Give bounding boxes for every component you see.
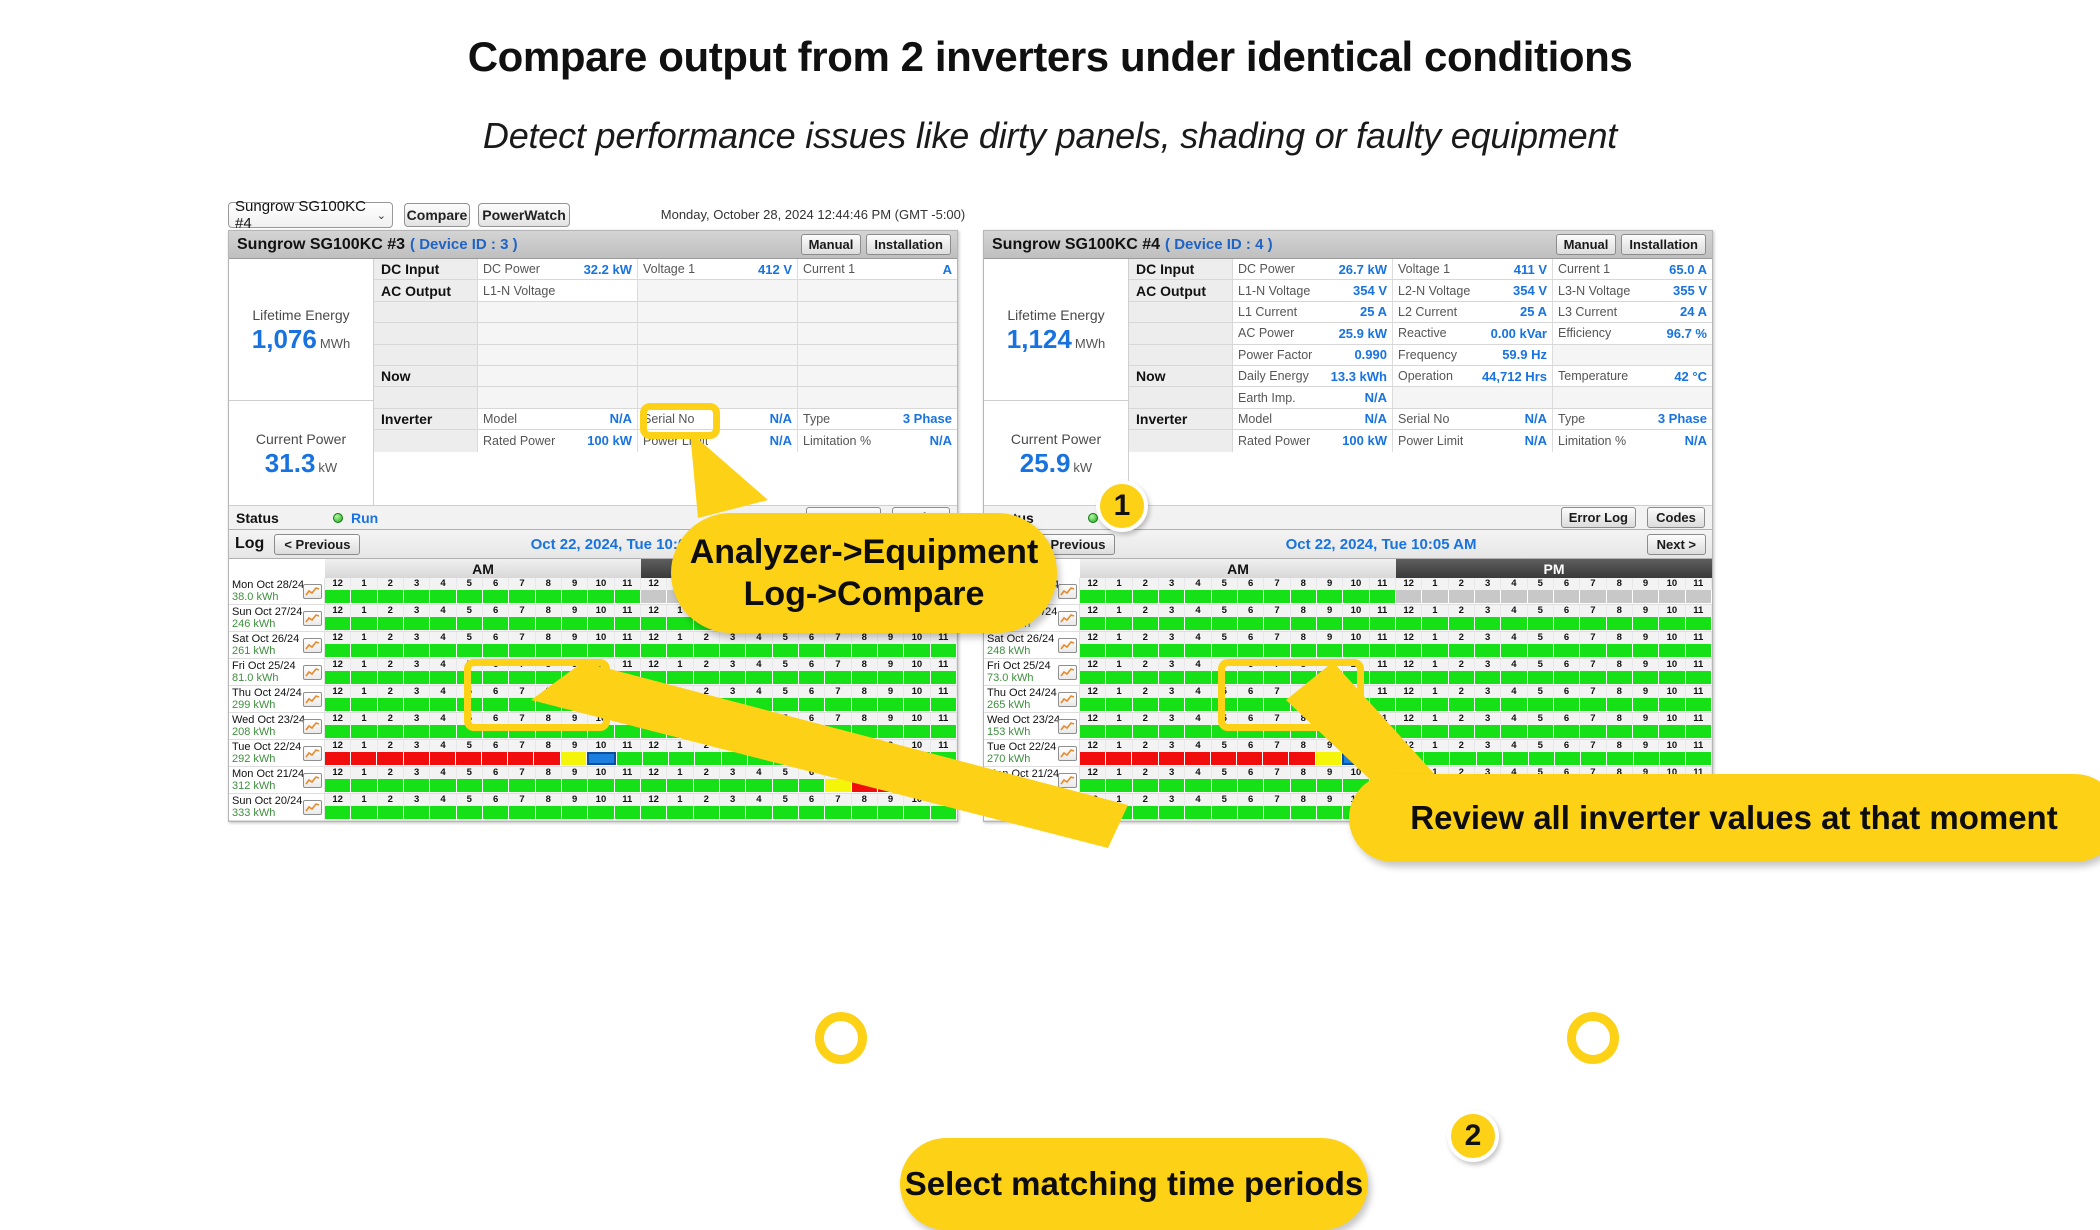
hour-cell[interactable] [1370,698,1395,711]
hour-cell[interactable] [1080,617,1105,630]
hour-cell[interactable] [1133,698,1158,711]
hour-cell[interactable] [377,752,402,765]
hour-cell[interactable] [351,590,376,603]
hour-cell[interactable] [1185,617,1210,630]
hour-cell[interactable] [1185,752,1210,765]
hour-cell[interactable] [773,806,798,819]
hour-cell[interactable] [694,644,719,657]
hour-cell[interactable] [1528,725,1553,738]
hour-cell[interactable] [1343,671,1368,684]
chart-icon[interactable] [303,638,322,653]
hour-cell[interactable] [325,671,350,684]
hour-cell[interactable] [799,806,824,819]
hour-cell[interactable] [746,725,771,738]
hour-cell[interactable] [1659,725,1684,738]
hour-cell[interactable] [773,671,798,684]
hour-cell[interactable] [1449,617,1474,630]
chart-icon[interactable] [1058,746,1077,761]
hour-cell[interactable] [1396,644,1421,657]
hour-cell[interactable] [1659,698,1684,711]
hour-cell[interactable] [325,806,350,819]
hour-cell[interactable] [1554,671,1579,684]
hour-cell[interactable] [1291,779,1316,792]
hour-cell[interactable] [904,779,929,792]
hour-cell[interactable] [378,617,403,630]
hour-cell[interactable] [694,590,719,603]
hour-cell[interactable] [1106,779,1131,792]
hour-cell[interactable] [1159,617,1184,630]
hour-cell[interactable] [1554,590,1579,603]
hour-cell[interactable] [430,779,455,792]
hour-cell[interactable] [1501,617,1526,630]
hour-cell[interactable] [1291,590,1316,603]
hour-cell[interactable] [1501,671,1526,684]
hour-cell[interactable] [1372,752,1397,765]
hour-cell[interactable] [799,644,824,657]
hour-cell[interactable] [1396,698,1421,711]
hour-cell[interactable] [1317,725,1342,738]
chart-icon[interactable] [303,665,322,680]
hour-cell[interactable] [1291,698,1316,711]
hour-cell[interactable] [825,590,850,603]
hour-cell[interactable] [746,779,771,792]
hour-cell[interactable] [1580,779,1605,792]
hour-cell[interactable] [509,779,534,792]
hour-cell[interactable] [1503,752,1528,765]
hour-cell[interactable] [482,752,507,765]
hour-cell[interactable] [1132,752,1157,765]
hour-cell[interactable] [351,617,376,630]
hour-cell[interactable] [825,698,850,711]
hour-cell[interactable] [825,725,850,738]
hour-cell[interactable] [1501,779,1526,792]
hour-cell[interactable] [509,806,534,819]
hour-cell[interactable] [1185,806,1210,819]
hour-cell[interactable] [430,644,455,657]
hour-cell[interactable] [1607,752,1632,765]
hour-cell[interactable] [456,752,481,765]
hour-cell[interactable] [852,779,877,792]
hour-cell[interactable] [1343,779,1368,792]
hour-cell[interactable] [483,779,508,792]
hour-cell[interactable] [1580,671,1605,684]
hour-cell[interactable] [1475,806,1500,819]
hour-cell[interactable] [1396,725,1421,738]
hour-cell[interactable] [1475,590,1500,603]
hour-cell[interactable] [1212,698,1237,711]
hour-cell[interactable] [641,806,666,819]
hour-cell[interactable] [825,779,850,792]
hour-cell[interactable] [852,752,877,765]
manual-button[interactable]: Manual [801,234,862,255]
hour-cell[interactable] [931,779,956,792]
hour-cell[interactable] [1212,644,1237,657]
hour-cell[interactable] [430,590,455,603]
hour-cell[interactable] [1212,806,1237,819]
hour-cell[interactable] [378,644,403,657]
hour-cell[interactable] [404,779,429,792]
hour-cell[interactable] [773,617,798,630]
hour-cell[interactable] [1422,671,1447,684]
hour-cell[interactable] [1449,671,1474,684]
hour-cell[interactable] [720,725,745,738]
hour-cell[interactable] [931,644,956,657]
hour-cell[interactable] [588,806,613,819]
hour-cell[interactable] [695,752,720,765]
hour-cell[interactable] [1370,671,1395,684]
hour-cell[interactable] [588,779,613,792]
hour-cell[interactable] [748,752,773,765]
hour-cell[interactable] [1263,752,1288,765]
hour-cell[interactable] [1238,644,1263,657]
hour-cell[interactable] [1370,806,1395,819]
hour-cell[interactable] [1528,698,1553,711]
hour-cell[interactable] [325,590,350,603]
hour-cell[interactable] [1449,779,1474,792]
hour-cell[interactable] [931,671,956,684]
hour-cell[interactable] [536,725,561,738]
hour-cell[interactable] [1659,806,1684,819]
hour-cell[interactable] [1633,671,1658,684]
hour-cell[interactable] [1449,590,1474,603]
chart-icon[interactable] [303,773,322,788]
hour-cell[interactable] [1686,698,1711,711]
hour-cell[interactable] [430,752,455,765]
hour-cell[interactable] [457,644,482,657]
hour-cell[interactable] [1449,644,1474,657]
hour-cell[interactable] [1607,671,1632,684]
hour-cell[interactable] [904,644,929,657]
hour-cell[interactable] [1185,698,1210,711]
hour-cell[interactable] [1291,644,1316,657]
hour-cell[interactable] [852,806,877,819]
hour-cell[interactable] [1080,806,1105,819]
hour-cell[interactable] [1686,806,1711,819]
hour-cell[interactable] [746,590,771,603]
hour-cell[interactable] [1580,590,1605,603]
installation-button[interactable]: Installation [866,234,951,255]
hour-cell[interactable] [457,617,482,630]
hour-cell[interactable] [1686,779,1711,792]
hour-cell[interactable] [1080,698,1105,711]
hour-cell[interactable] [641,644,666,657]
hour-cell[interactable] [931,698,956,711]
hour-cell[interactable] [325,779,350,792]
hour-cell[interactable] [378,779,403,792]
hour-cell[interactable] [1238,779,1263,792]
hour-cell[interactable] [1106,725,1131,738]
hour-cell[interactable] [1633,644,1658,657]
hour-cell[interactable] [1370,644,1395,657]
hour-cell[interactable] [799,725,824,738]
hour-cell[interactable] [931,806,956,819]
hour-cell[interactable] [931,725,956,738]
chart-icon[interactable] [1058,584,1077,599]
hour-cell[interactable] [615,617,640,630]
hour-cell[interactable] [1607,806,1632,819]
hour-cell[interactable] [483,644,508,657]
hour-cell[interactable] [1291,617,1316,630]
hour-cell[interactable] [536,698,561,711]
hour-cell[interactable] [1528,617,1553,630]
hour-cell[interactable] [667,590,692,603]
hour-cell[interactable] [667,779,692,792]
hour-cell[interactable] [774,752,799,765]
hour-cell[interactable] [1555,752,1580,765]
hour-cell[interactable] [457,725,482,738]
hour-cell[interactable] [799,617,824,630]
hour-cell[interactable] [1212,617,1237,630]
hour-cell[interactable] [1528,671,1553,684]
hour-cell[interactable] [931,617,956,630]
chart-icon[interactable] [1058,692,1077,707]
hour-cell[interactable] [430,617,455,630]
hour-cell[interactable] [852,590,877,603]
hour-cell[interactable] [1159,806,1184,819]
hour-cell[interactable] [615,779,640,792]
hour-cell[interactable] [483,671,508,684]
hour-cell[interactable] [1185,779,1210,792]
hour-cell[interactable] [1422,779,1447,792]
hour-cell[interactable] [641,590,666,603]
hour-cell[interactable] [1659,644,1684,657]
hour-cell[interactable] [1317,779,1342,792]
hour-cell[interactable] [1501,725,1526,738]
hour-cell[interactable] [694,671,719,684]
hour-cell[interactable] [1633,779,1658,792]
hour-cell[interactable] [615,671,640,684]
hour-cell[interactable] [904,698,929,711]
hour-cell[interactable] [1080,671,1105,684]
hour-cell[interactable] [641,725,666,738]
hour-cell[interactable] [1580,617,1605,630]
hour-cell[interactable] [1106,752,1131,765]
hour-cell[interactable] [720,617,745,630]
hour-cell[interactable] [799,671,824,684]
compare-button[interactable]: Compare [404,203,470,227]
hour-cell[interactable] [1133,806,1158,819]
hour-cell[interactable] [457,590,482,603]
hour-cell[interactable] [1185,644,1210,657]
hour-cell[interactable] [1554,617,1579,630]
hour-cell[interactable] [483,590,508,603]
error-log-button[interactable]: Error Log [1561,507,1636,528]
hour-cell[interactable] [1554,698,1579,711]
hour-cell[interactable] [536,779,561,792]
hour-cell[interactable] [1080,644,1105,657]
hour-cell[interactable] [536,671,561,684]
hour-cell[interactable] [1554,779,1579,792]
hour-cell[interactable] [1607,644,1632,657]
hour-cell[interactable] [667,644,692,657]
hour-cell[interactable] [1159,644,1184,657]
hour-cell[interactable] [1633,617,1658,630]
hour-cell[interactable] [852,725,877,738]
hour-cell[interactable] [1424,752,1449,765]
hour-cell[interactable] [878,698,903,711]
hour-cell[interactable] [325,617,350,630]
hour-cell[interactable] [457,779,482,792]
hour-cell[interactable] [1449,698,1474,711]
hour-cell[interactable] [351,752,376,765]
hour-cell[interactable] [483,725,508,738]
hour-cell[interactable] [1501,644,1526,657]
hour-cell[interactable] [536,644,561,657]
hour-cell[interactable] [694,698,719,711]
hour-cell[interactable] [878,725,903,738]
hour-cell[interactable] [1607,779,1632,792]
hour-cell[interactable] [694,806,719,819]
chart-icon[interactable] [1058,611,1077,626]
hour-cell[interactable] [1633,698,1658,711]
hour-cell[interactable] [1291,806,1316,819]
hour-cell[interactable] [1238,698,1263,711]
hour-cell[interactable] [457,671,482,684]
hour-cell[interactable] [483,617,508,630]
manual-button[interactable]: Manual [1556,234,1617,255]
chart-icon[interactable] [303,584,322,599]
hour-cell[interactable] [615,725,640,738]
hour-cell[interactable] [1343,644,1368,657]
hour-cell[interactable] [588,644,613,657]
hour-cell[interactable] [667,698,692,711]
hour-cell[interactable] [1633,725,1658,738]
hour-cell[interactable] [1396,671,1421,684]
hour-cell[interactable] [351,698,376,711]
hour-cell[interactable] [1370,590,1395,603]
chart-icon[interactable] [303,692,322,707]
hour-cell[interactable] [773,698,798,711]
hour-cell[interactable] [720,806,745,819]
hour-cell[interactable] [378,725,403,738]
hour-cell[interactable] [1212,725,1237,738]
hour-cell[interactable] [1080,590,1105,603]
hour-cell[interactable] [1422,806,1447,819]
hour-cell[interactable] [404,671,429,684]
hour-cell[interactable] [1686,725,1711,738]
hour-cell[interactable] [694,779,719,792]
hour-cell[interactable] [1343,698,1368,711]
hour-cell[interactable] [1080,725,1105,738]
hour-cell[interactable] [588,590,613,603]
hour-cell[interactable] [720,644,745,657]
hour-cell[interactable] [1211,752,1236,765]
hour-cell[interactable] [1475,698,1500,711]
hour-cell[interactable] [509,644,534,657]
hour-cell[interactable] [378,671,403,684]
hour-cell[interactable] [430,671,455,684]
hour-cell[interactable] [1185,725,1210,738]
hour-cell[interactable] [1422,644,1447,657]
hour-cell[interactable] [1080,779,1105,792]
hour-cell[interactable] [1106,617,1131,630]
hour-cell[interactable] [430,698,455,711]
hour-cell[interactable] [404,752,429,765]
hour-cell[interactable] [430,806,455,819]
hour-cell[interactable] [562,644,587,657]
hour-cell[interactable] [325,725,350,738]
hour-cell[interactable] [1343,725,1368,738]
hour-cell[interactable] [536,590,561,603]
hour-cell[interactable] [562,725,587,738]
chart-icon[interactable] [1058,800,1077,815]
next-button[interactable]: Next > [892,534,951,555]
hour-cell[interactable] [457,698,482,711]
hour-cell[interactable] [1370,779,1395,792]
hour-cell[interactable] [1450,752,1475,765]
hour-cell[interactable] [1264,806,1289,819]
hour-cell[interactable] [1501,590,1526,603]
hour-cell[interactable] [1607,590,1632,603]
hour-cell[interactable] [404,806,429,819]
hour-cell[interactable] [1581,752,1606,765]
hour-cell[interactable] [615,590,640,603]
hour-cell[interactable] [1212,590,1237,603]
hour-cell[interactable] [1686,617,1711,630]
hour-cell[interactable] [1633,806,1658,819]
hour-cell[interactable] [746,806,771,819]
hour-cell[interactable] [799,590,824,603]
hour-cell[interactable] [1343,590,1368,603]
hour-cell[interactable] [694,617,719,630]
hour-cell[interactable] [1660,752,1685,765]
hour-cell[interactable] [1607,617,1632,630]
hour-cell[interactable] [1477,752,1502,765]
hour-cell[interactable] [1633,590,1658,603]
hour-cell[interactable] [1106,671,1131,684]
hour-cell[interactable] [1317,590,1342,603]
hour-cell[interactable] [1396,779,1421,792]
hour-cell[interactable] [430,725,455,738]
hour-cell[interactable] [1634,752,1659,765]
hour-cell[interactable] [852,671,877,684]
hour-cell[interactable] [825,644,850,657]
hour-cell[interactable] [509,590,534,603]
hour-cell[interactable] [588,617,613,630]
hour-cell-selected[interactable] [587,752,616,765]
hour-cell[interactable] [773,644,798,657]
hour-cell[interactable] [667,617,692,630]
hour-cell[interactable] [562,698,587,711]
hour-cell[interactable] [1607,725,1632,738]
previous-button[interactable]: < Previous [1029,534,1115,555]
hour-cell[interactable] [562,617,587,630]
hour-cell[interactable] [1317,698,1342,711]
hour-cell[interactable] [1317,644,1342,657]
hour-cell[interactable] [1133,644,1158,657]
hour-cell[interactable] [825,617,850,630]
hour-cell[interactable] [325,752,350,765]
hour-cell[interactable] [1317,617,1342,630]
hour-cell[interactable] [1264,779,1289,792]
hour-cell[interactable] [825,806,850,819]
hour-cell[interactable] [879,752,904,765]
hour-cell[interactable] [1317,806,1342,819]
chart-icon[interactable] [1058,638,1077,653]
hour-cell[interactable] [878,590,903,603]
hour-cell[interactable] [325,644,350,657]
hour-cell[interactable] [773,725,798,738]
hour-cell[interactable] [1133,617,1158,630]
hour-cell[interactable] [1264,698,1289,711]
powerwatch-button[interactable]: PowerWatch [478,203,570,227]
hour-cell[interactable] [1238,671,1263,684]
hour-cell[interactable] [905,752,930,765]
hour-cell[interactable] [1316,752,1341,765]
hour-cell[interactable] [1396,617,1421,630]
hour-cell[interactable] [931,752,956,765]
hour-cell[interactable] [1237,752,1262,765]
